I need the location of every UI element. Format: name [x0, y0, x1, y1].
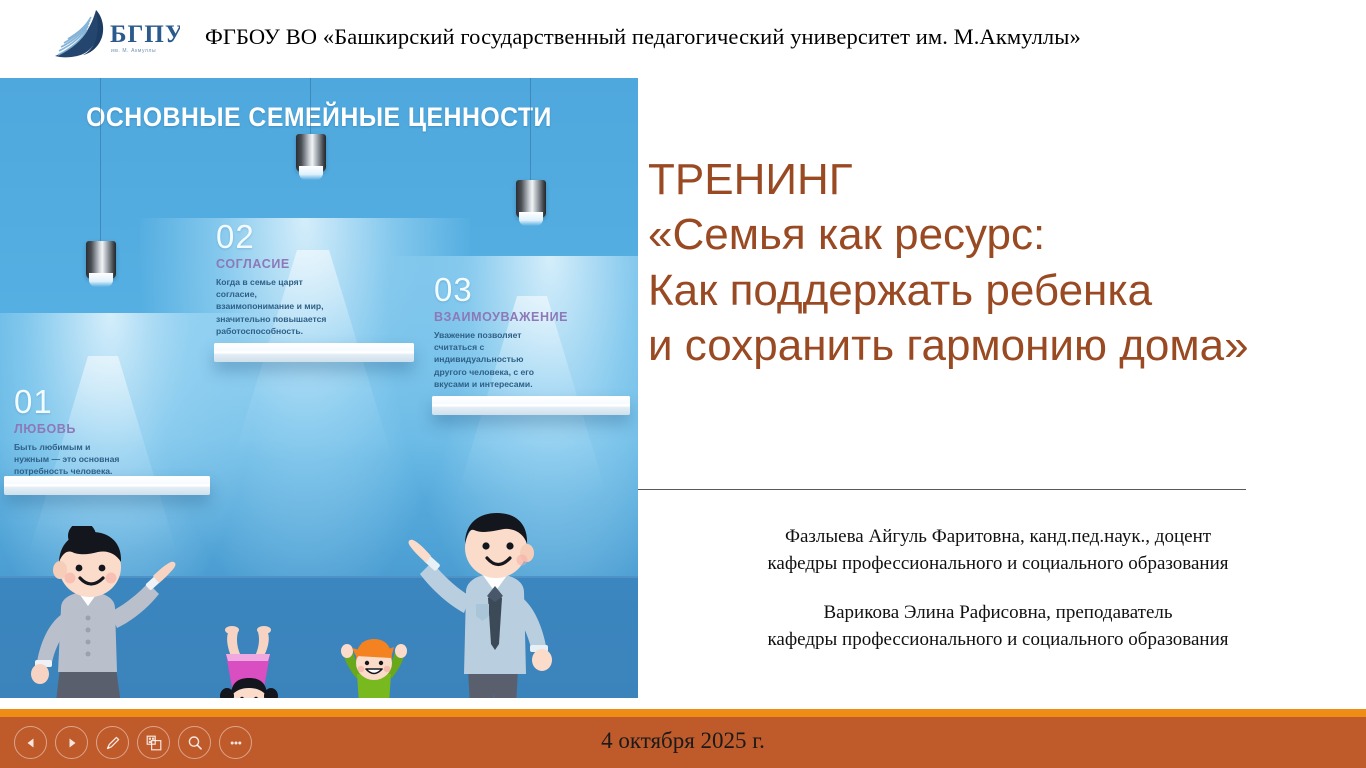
girl-character — [204, 626, 294, 698]
mother-character — [20, 526, 180, 698]
value-block-2: 02 СОГЛАСИЕ Когда в семье царят согласие… — [216, 220, 384, 337]
value-block-3: 03 ВЗАИМОУВАЖЕНИЕ Уважение позволяет счи… — [434, 273, 602, 390]
value-name: ВЗАИМОУВАЖЕНИЕ — [434, 310, 602, 324]
accent-strip — [0, 709, 1366, 717]
value-name: ЛЮБОВЬ — [14, 422, 182, 436]
family-values-infographic: ОСНОВНЫЕ СЕМЕЙНЫЕ ЦЕННОСТИ 01 ЛЮБОВЬ Быт… — [0, 78, 638, 698]
lamp-cord-1 — [100, 78, 101, 245]
value-description: Уважение позволяет считаться с индивидуа… — [434, 329, 546, 390]
value-number: 03 — [434, 273, 602, 306]
author-name-and-degree: Варикова Элина Рафисовна, преподаватель — [648, 600, 1348, 627]
authors-block: Фазлыева Айгуль Фаритовна, канд.пед.наук… — [648, 524, 1348, 676]
slide-date: 4 октября 2025 г. — [0, 728, 1366, 754]
father-character — [400, 508, 590, 698]
lamp-2 — [296, 134, 326, 172]
title-line-2: «Семья как ресурс: — [648, 207, 1354, 262]
shelf-1 — [4, 476, 210, 495]
title-divider — [638, 489, 1246, 490]
author-department: кафедры профессионального и социального … — [648, 551, 1348, 578]
organization-title: ФГБОУ ВО «Башкирский государственный пед… — [205, 24, 1305, 50]
value-number: 02 — [216, 220, 384, 253]
lamp-1 — [86, 241, 116, 279]
author-name-and-degree: Фазлыева Айгуль Фаритовна, канд.пед.наук… — [648, 524, 1348, 551]
presentation-title: ТРЕНИНГ «Семья как ресурс: Как поддержат… — [648, 152, 1354, 374]
lamp-cord-3 — [530, 78, 531, 184]
author-department: кафедры профессионального и социального … — [648, 627, 1348, 654]
value-description: Быть любимым и нужным — это основная пот… — [14, 441, 126, 478]
lamp-3 — [516, 180, 546, 218]
author-1: Фазлыева Айгуль Фаритовна, канд.пед.наук… — [648, 524, 1348, 578]
infographic-title: ОСНОВНЫЕ СЕМЕЙНЫЕ ЦЕННОСТИ — [26, 102, 613, 133]
title-line-3: Как поддержать ребенка — [648, 263, 1354, 318]
bgpu-logo: БГПУ им. М. Акмуллы — [52, 6, 180, 64]
shelf-2 — [214, 343, 414, 362]
slide-header: БГПУ им. М. Акмуллы ФГБОУ ВО «Башкирский… — [0, 0, 1366, 78]
logo-letters: БГПУ — [110, 21, 180, 48]
author-2: Варикова Элина Рафисовна, преподаватель … — [648, 600, 1348, 654]
value-block-1: 01 ЛЮБОВЬ Быть любимым и нужным — это ос… — [14, 385, 182, 478]
shelf-3 — [432, 396, 630, 415]
value-number: 01 — [14, 385, 182, 418]
lamp-cord-2 — [310, 78, 311, 138]
value-description: Когда в семье царят согласие, взаимопони… — [216, 276, 328, 337]
logo-subtext: им. М. Акмуллы — [111, 48, 156, 54]
presentation-slide: БГПУ им. М. Акмуллы ФГБОУ ВО «Башкирский… — [0, 0, 1366, 768]
value-name: СОГЛАСИЕ — [216, 257, 384, 271]
title-line-1: ТРЕНИНГ — [648, 152, 1354, 207]
title-line-4: и сохранить гармонию дома» — [648, 318, 1354, 373]
